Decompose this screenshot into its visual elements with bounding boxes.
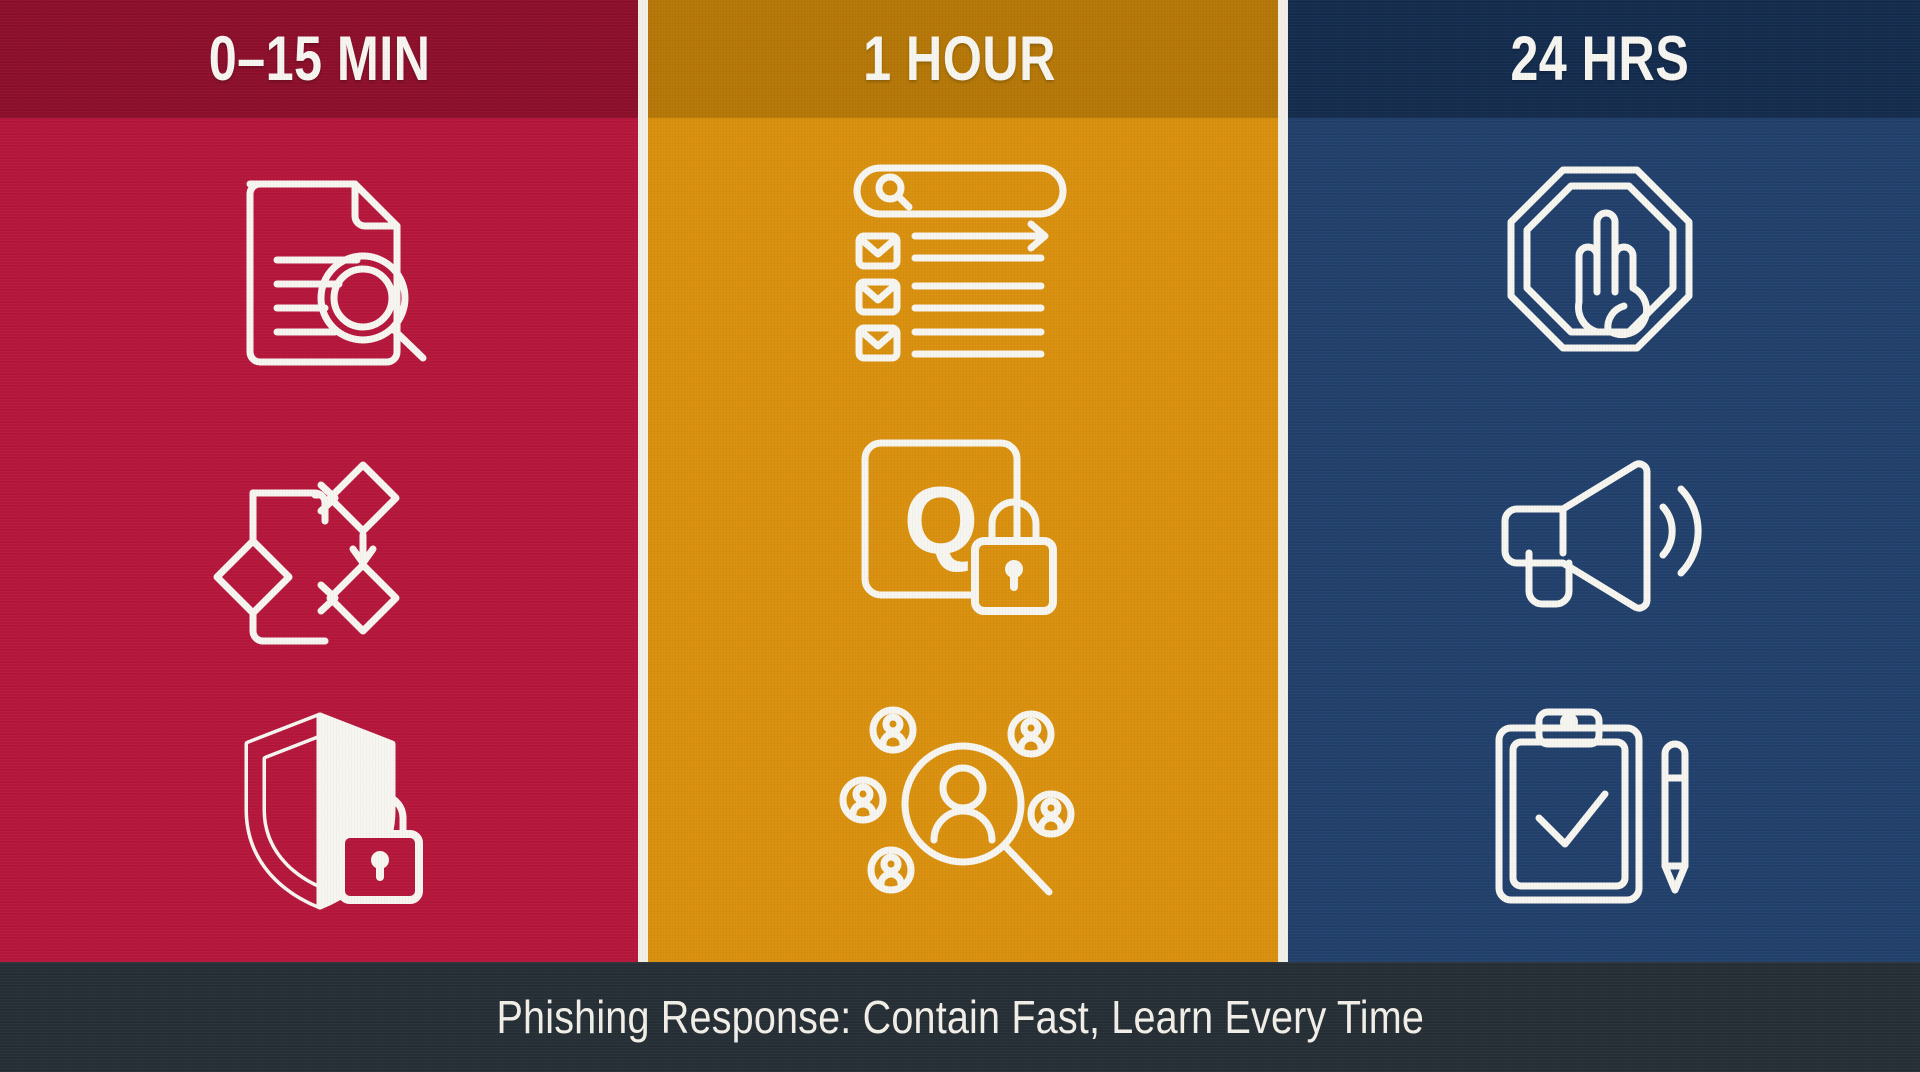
shield-lock-icon [195,694,445,924]
footer-caption-bar: Phishing Response: Contain Fast, Learn E… [0,962,1920,1072]
document-magnifier-icon [195,152,445,382]
timeline-column-1-hour: 1 HOUR [640,0,1280,962]
footer-caption-text: Phishing Response: Contain Fast, Learn E… [496,990,1424,1044]
quarantine-lock-icon: Q [835,423,1085,653]
clipboard-check-pen-icon [1475,694,1725,924]
column-header-label: 0–15 MIN [209,28,431,91]
timeline-column-24-hrs: 24 HRS [1280,0,1920,962]
timeline-columns: 0–15 MIN [0,0,1920,962]
search-mail-list-icon [835,152,1085,382]
column-icons-24-hrs [1280,118,1920,962]
column-header-24-hrs: 24 HRS [1280,0,1920,118]
flowchart-decision-icon [195,423,445,653]
column-header-label: 1 HOUR [864,28,1057,91]
column-header-label: 24 HRS [1511,28,1690,91]
column-header-1-hour: 1 HOUR [640,0,1280,118]
column-icons-1-hour: Q [640,118,1280,962]
column-divider-2 [1278,0,1288,962]
infographic-canvas: 0–15 MIN [0,0,1920,1072]
column-divider-1 [638,0,648,962]
timeline-column-0-15-min: 0–15 MIN [0,0,640,962]
column-header-0-15-min: 0–15 MIN [0,0,640,118]
stop-hand-icon [1475,152,1725,382]
column-icons-0-15-min [0,118,640,962]
megaphone-icon [1475,423,1725,653]
user-search-network-icon [835,694,1085,924]
svg-text:Q: Q [904,467,979,574]
